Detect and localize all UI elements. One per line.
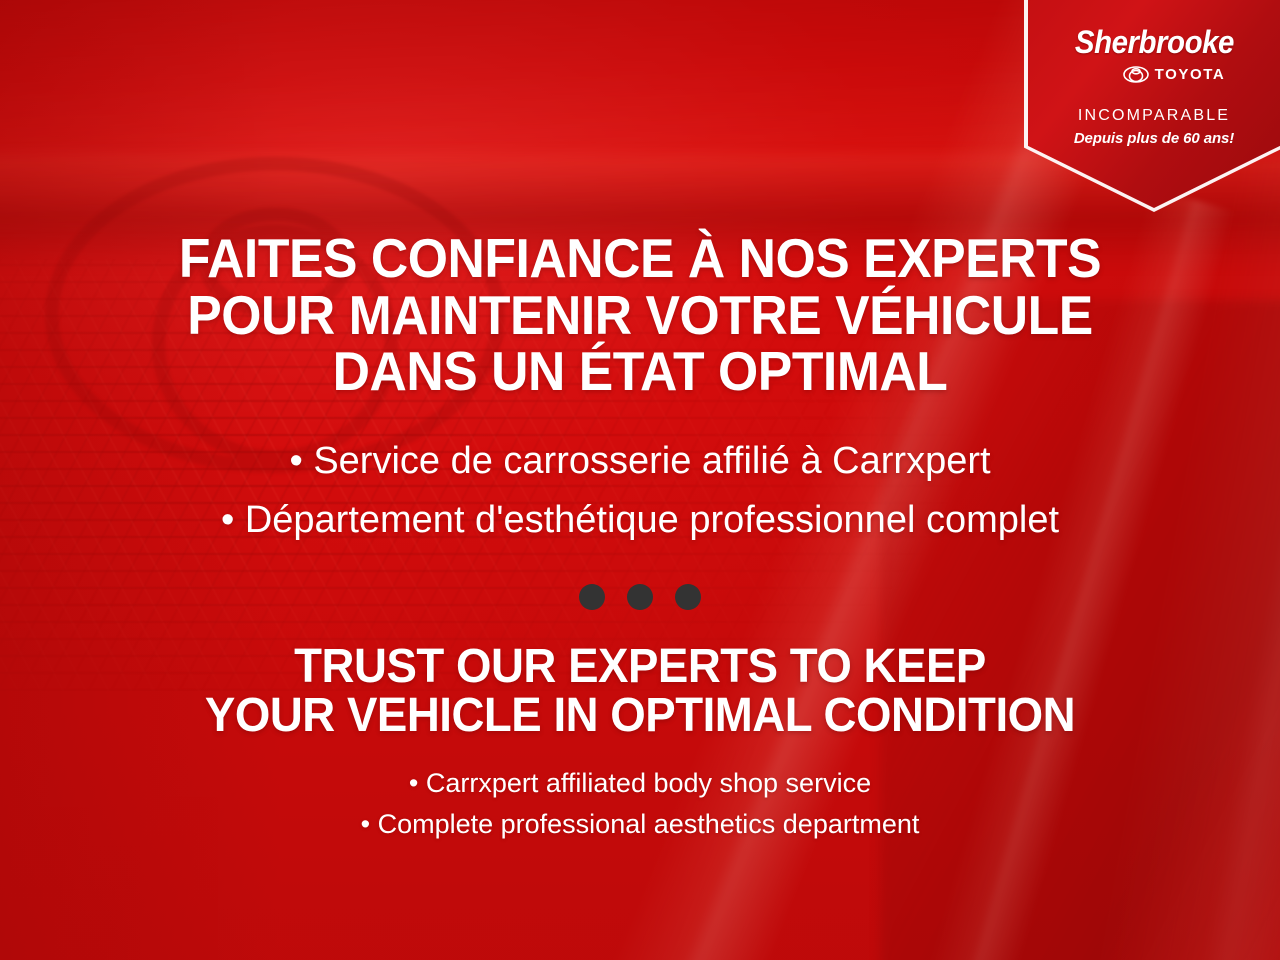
headline-french-line-3: DANS UN ÉTAT OPTIMAL <box>147 343 1134 400</box>
promo-banner: Sherbrooke TOYOTA INCOMPARABLE Depuis pl… <box>0 0 1280 960</box>
bullet-list-english: • Carrxpert affiliated body shop service… <box>90 763 1190 847</box>
headline-english: TRUST OUR EXPERTS TO KEEP YOUR VEHICLE I… <box>141 642 1139 741</box>
separator-dot-3 <box>675 584 701 610</box>
headline-french: FAITES CONFIANCE À NOS EXPERTS POUR MAIN… <box>147 230 1134 400</box>
banner-content: FAITES CONFIANCE À NOS EXPERTS POUR MAIN… <box>0 0 1280 960</box>
bullet-item-english-2: • Complete professional aesthetics depar… <box>90 804 1190 846</box>
headline-french-line-1: FAITES CONFIANCE À NOS EXPERTS <box>147 230 1134 287</box>
bullet-item-english-1: • Carrxpert affiliated body shop service <box>90 763 1190 805</box>
separator-dot-1 <box>579 584 605 610</box>
headline-english-line-1: TRUST OUR EXPERTS TO KEEP <box>141 642 1139 691</box>
headline-french-line-2: POUR MAINTENIR VOTRE VÉHICULE <box>147 287 1134 344</box>
bullet-item-french-2: • Département d'esthétique professionnel… <box>90 491 1190 550</box>
bullet-list-french: • Service de carrosserie affilié à Carrx… <box>90 432 1190 550</box>
three-dots-separator-icon <box>579 584 701 610</box>
bullet-item-french-1: • Service de carrosserie affilié à Carrx… <box>90 432 1190 491</box>
separator-dot-2 <box>627 584 653 610</box>
headline-english-line-2: YOUR VEHICLE IN OPTIMAL CONDITION <box>141 691 1139 740</box>
